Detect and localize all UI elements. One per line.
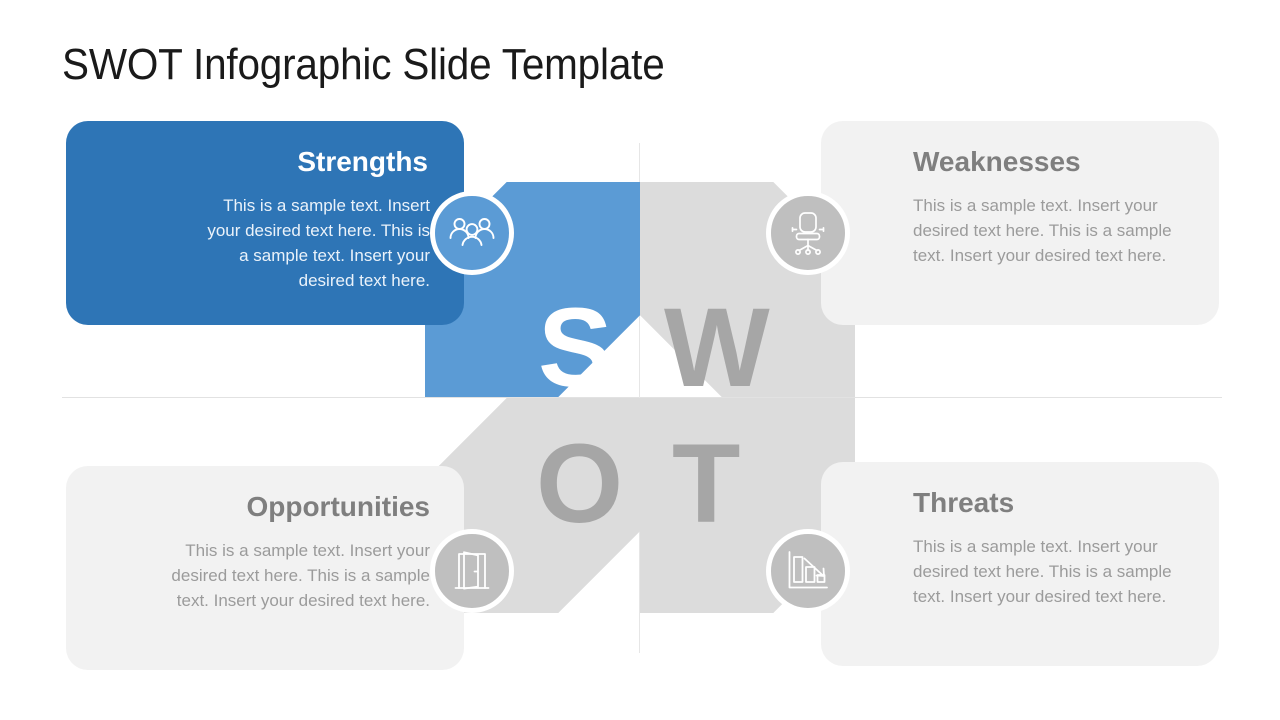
opportunities-body: This is a sample text. Insert your desir…	[168, 538, 430, 613]
quadrant-panel-strengths[interactable]: Strengths This is a sample text. Insert …	[66, 121, 464, 325]
strengths-title: Strengths	[94, 145, 430, 179]
quadrant-panel-opportunities[interactable]: Opportunities This is a sample text. Ins…	[66, 466, 464, 670]
page-title: SWOT Infographic Slide Template	[62, 39, 665, 91]
quadrant-panel-weaknesses[interactable]: Weaknesses This is a sample text. Insert…	[821, 121, 1219, 325]
declining-bar-chart-icon[interactable]	[766, 529, 850, 613]
weaknesses-title: Weaknesses	[913, 145, 1191, 179]
office-chair-icon[interactable]	[766, 191, 850, 275]
center-letter-s: S	[538, 292, 613, 404]
horizontal-divider	[62, 397, 1222, 398]
center-letter-t: T	[672, 428, 740, 540]
center-letter-w: W	[664, 292, 770, 404]
center-letter-o: O	[536, 428, 623, 540]
quadrant-panel-threats[interactable]: Threats This is a sample text. Insert yo…	[821, 462, 1219, 666]
threats-body: This is a sample text. Insert your desir…	[913, 534, 1175, 609]
people-group-icon[interactable]	[430, 191, 514, 275]
threats-title: Threats	[913, 486, 1191, 520]
open-door-icon[interactable]	[430, 529, 514, 613]
strengths-body: This is a sample text. Insert your desir…	[204, 193, 430, 293]
opportunities-title: Opportunities	[94, 490, 430, 524]
weaknesses-body: This is a sample text. Insert your desir…	[913, 193, 1175, 268]
